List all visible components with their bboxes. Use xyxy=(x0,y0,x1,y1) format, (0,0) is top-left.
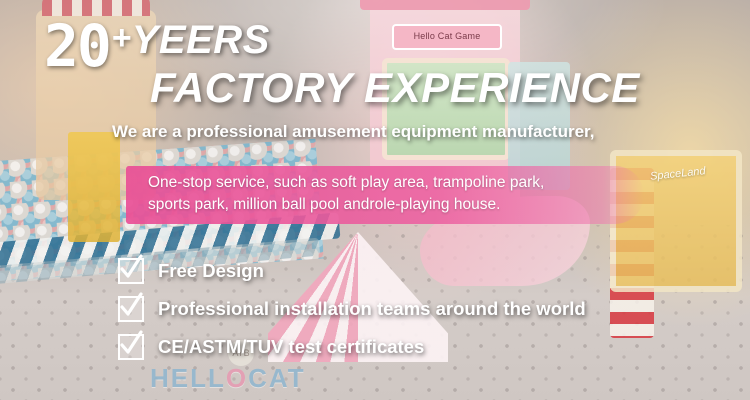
plus-sign: + xyxy=(112,18,132,58)
checklist-item-free-design: Free Design xyxy=(118,252,718,290)
checklist: Free Design Professional installation te… xyxy=(118,252,718,366)
promo-banner: Hello Cat Game SpaceLand HELLOCAT AYB 20… xyxy=(0,0,750,400)
years-number: 20 xyxy=(44,18,110,74)
years-word: YEERS xyxy=(132,18,270,62)
highlight-band: One-stop service, such as soft play area… xyxy=(126,166,644,224)
checklist-item-certificates: CE/ASTM/TUV test certificates xyxy=(118,328,718,366)
checkbox-checked-icon xyxy=(118,334,144,360)
checklist-label: Professional installation teams around t… xyxy=(158,298,586,320)
checklist-label: CE/ASTM/TUV test certificates xyxy=(158,336,424,358)
checklist-item-installation-teams: Professional installation teams around t… xyxy=(118,290,718,328)
headline-line2: FACTORY EXPERIENCE xyxy=(150,64,640,112)
checkbox-checked-icon xyxy=(118,258,144,284)
subheadline: We are a professional amusement equipmen… xyxy=(112,122,594,142)
checkbox-checked-icon xyxy=(118,296,144,322)
highlight-line-1: One-stop service, such as soft play area… xyxy=(148,174,544,192)
text-overlay: 20 + YEERS FACTORY EXPERIENCE We are a p… xyxy=(0,0,750,400)
checklist-label: Free Design xyxy=(158,260,264,282)
highlight-line-2: sports park, million ball pool androle-p… xyxy=(148,196,500,214)
